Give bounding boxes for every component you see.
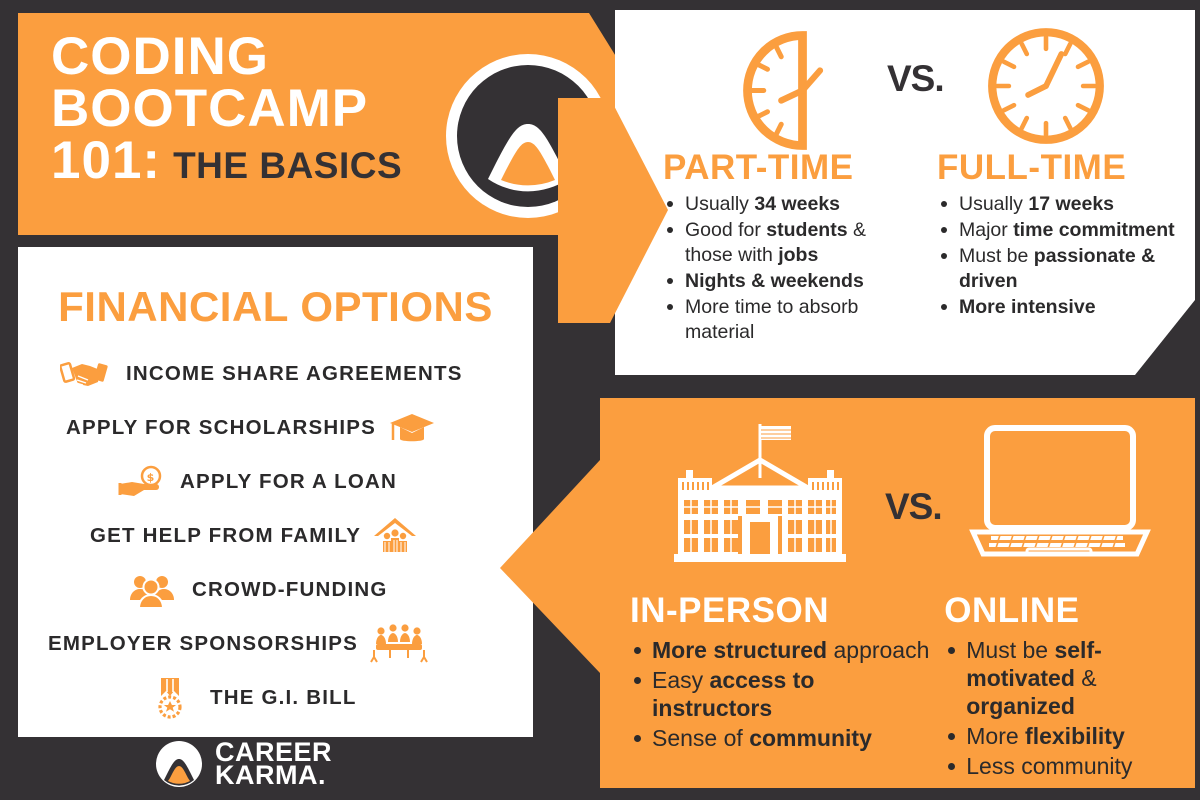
part-time-column: PART-TIME Usually 34 weeksGood for stude… (615, 150, 915, 346)
bullet-item: Less community (944, 752, 1194, 780)
svg-text:$: $ (147, 471, 156, 484)
page-title-line1: CODING (51, 31, 451, 83)
bullet-item: More structured approach (630, 636, 930, 664)
bullet-item: Good for students & those with jobs (663, 218, 903, 268)
bullet-item: Must be self-motivated & organized (944, 636, 1194, 720)
page-title-line2: BOOTCAMP (51, 83, 451, 135)
bullet-item: More time to absorb material (663, 295, 903, 345)
header-title-block: CODING BOOTCAMP 101: THE BASICS (51, 31, 451, 187)
list-item[interactable]: INCOME SHARE AGREEMENTS (18, 347, 533, 401)
in-person-column: IN-PERSON More structured approachEasy a… (600, 593, 942, 782)
medal-icon (146, 676, 194, 720)
online-column: ONLINE Must be self-motivated & organize… (942, 593, 1195, 782)
schedule-icon-row: VS. (615, 10, 1195, 160)
part-time-bullets: Usually 34 weeksGood for students & thos… (663, 192, 903, 345)
list-item-label: CROWD-FUNDING (192, 578, 388, 602)
page-title-line3: 101: THE BASICS (51, 135, 451, 187)
list-item-label: APPLY FOR SCHOLARSHIPS (66, 416, 376, 440)
format-vs-label: VS. (885, 486, 942, 528)
handshake-icon (60, 352, 108, 396)
bullet-item: More intensive (937, 295, 1195, 320)
career-karma-mountain-logo (155, 740, 203, 788)
full-time-bullets: Usually 17 weeksMajor time commitmentMus… (937, 192, 1195, 320)
list-item[interactable]: CROWD-FUNDING (18, 563, 533, 617)
bullet-item: Usually 34 weeks (663, 192, 903, 217)
list-item[interactable]: GET HELP FROM FAMILY (18, 509, 533, 563)
schedule-comparison-panel: VS. (615, 10, 1195, 375)
header-banner: CODING BOOTCAMP 101: THE BASICS (18, 13, 638, 235)
part-time-heading: PART-TIME (663, 150, 915, 185)
full-time-heading: FULL-TIME (937, 150, 1195, 185)
schedule-vs-label: VS. (887, 58, 944, 100)
list-item-label: THE G.I. BILL (210, 686, 357, 710)
format-panel-content: VS. IN-PERSON More struct (600, 398, 1195, 788)
list-item-label: APPLY FOR A LOAN (180, 470, 397, 494)
graduation-cap-icon (388, 406, 436, 450)
full-clock-icon (982, 22, 1110, 150)
schedule-columns: PART-TIME Usually 34 weeksGood for stude… (615, 150, 1195, 346)
financial-options-title: FINANCIAL OPTIONS (18, 283, 533, 331)
bullet-item: Must be passionate & driven (937, 244, 1195, 294)
in-person-bullets: More structured approachEasy access to i… (630, 636, 930, 752)
list-item-label: EMPLOYER SPONSORSHIPS (48, 632, 358, 656)
full-time-column: FULL-TIME Usually 17 weeksMajor time com… (915, 150, 1195, 346)
half-clock-icon (740, 28, 865, 153)
page-title-number: 101: (51, 135, 161, 187)
page-subtitle: THE BASICS (173, 148, 402, 184)
footer-brand: CAREER KARMA. (155, 738, 395, 790)
format-columns: IN-PERSON More structured approachEasy a… (600, 593, 1195, 782)
financial-options-list: INCOME SHARE AGREEMENTS APPLY FOR SCHOLA… (18, 347, 533, 725)
hand-coin-icon: $ (118, 460, 166, 504)
brand-dot: . (318, 760, 326, 790)
brand-wordmark: CAREER KARMA. (215, 741, 332, 787)
list-item[interactable]: $ APPLY FOR A LOAN (18, 455, 533, 509)
list-item[interactable]: THE G.I. BILL (18, 671, 533, 725)
laptop-icon (965, 420, 1155, 570)
brand-word-bottom: KARMA. (215, 764, 332, 787)
online-bullets: Must be self-motivated & organizedMore f… (944, 636, 1194, 780)
meeting-table-icon (368, 622, 430, 666)
bullet-item: Usually 17 weeks (937, 192, 1195, 217)
bullet-item: Sense of community (630, 724, 930, 752)
format-comparison-panel: VS. IN-PERSON More struct (470, 398, 1195, 788)
online-heading: ONLINE (944, 593, 1195, 628)
list-item[interactable]: EMPLOYER SPONSORSHIPS (18, 617, 533, 671)
government-building-icon (660, 416, 860, 576)
bullet-item: Easy access to instructors (630, 666, 930, 722)
list-item-label: INCOME SHARE AGREEMENTS (126, 362, 463, 386)
bullet-item: Nights & weekends (663, 269, 903, 294)
people-group-icon (128, 568, 176, 612)
list-item[interactable]: APPLY FOR SCHOLARSHIPS (18, 401, 533, 455)
in-person-heading: IN-PERSON (630, 593, 942, 628)
financial-options-panel: FINANCIAL OPTIONS INCOME SHARE AGREEMENT… (18, 247, 533, 737)
list-item-label: GET HELP FROM FAMILY (90, 524, 361, 548)
bullet-item: More flexibility (944, 722, 1194, 750)
family-house-icon (371, 514, 419, 558)
infographic-canvas: CODING BOOTCAMP 101: THE BASICS (0, 0, 1200, 800)
bullet-item: Major time commitment (937, 218, 1195, 243)
